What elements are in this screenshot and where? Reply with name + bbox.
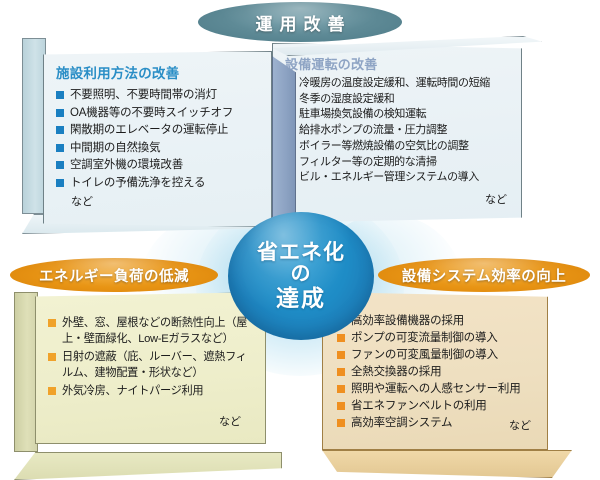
- list-item-label: ファンの可変風量制御の導入: [351, 347, 537, 363]
- panel-front-face: 設備運転の改善 冷暖房の温度設定緩和、運転時間の短縮 冬季の湿度設定緩和 駐車場…: [272, 43, 522, 223]
- item-list-facility-usage: 不要照明、不要時間帯の消灯 OA機器等の不要時スイッチオフ 閑散期のエレベータの…: [56, 87, 261, 191]
- list-item: 外気冷房、ナイトパージ利用: [48, 383, 251, 399]
- list-item: フィルター等の定期的な清掃: [285, 155, 511, 170]
- square-bullet-icon: [56, 109, 64, 117]
- list-item-label: 高効率設備機器の採用: [351, 313, 537, 329]
- center-line-2: の: [291, 264, 312, 285]
- panel-side-face: [272, 56, 296, 238]
- list-item: 空調室外機の環境改善: [56, 157, 261, 173]
- item-list-system-efficiency: 高効率設備機器の採用 ポンプの可変流量制御の導入 ファンの可変風量制御の導入 全…: [337, 313, 537, 431]
- list-item: 駐車場換気設備の検知運転: [285, 107, 511, 122]
- square-bullet-icon: [337, 385, 345, 393]
- square-bullet-icon: [56, 91, 64, 99]
- list-item: 省エネファンベルトの利用: [337, 398, 537, 414]
- list-item-label: 外壁、窓、屋根などの断熱性向上（屋上・壁面緑化、Low-Eガラスなど）: [62, 315, 251, 347]
- list-item: 閑散期のエレベータの運転停止: [56, 122, 261, 138]
- title-operational-improvement: 運用改善: [198, 2, 402, 42]
- list-item-label: 駐車場換気設備の検知運転: [299, 107, 511, 122]
- list-item-label: ボイラー等燃焼設備の空気比の調整: [299, 139, 511, 154]
- list-item: 照明や運転への人感センサー利用: [337, 381, 537, 397]
- square-bullet-icon: [337, 402, 345, 410]
- list-item: 高効率設備機器の採用: [337, 313, 537, 329]
- item-list-equipment-operation: 冷暖房の温度設定緩和、運転時間の短縮 冬季の湿度設定緩和 駐車場換気設備の検知運…: [285, 76, 511, 185]
- list-item-label: OA機器等の不要時スイッチオフ: [70, 105, 261, 121]
- list-item-label: 中間期の自然換気: [70, 140, 261, 156]
- panel-equipment-system-efficiency: 高効率設備機器の採用 ポンプの可変流量制御の導入 ファンの可変風量制御の導入 全…: [322, 288, 594, 478]
- panel-energy-load-reduction: 外壁、窓、屋根などの断熱性向上（屋上・壁面緑化、Low-Eガラスなど） 日射の遮…: [14, 292, 284, 474]
- list-item: 冬季の湿度設定緩和: [285, 92, 511, 107]
- square-bullet-icon: [48, 387, 56, 395]
- list-item: ボイラー等燃焼設備の空気比の調整: [285, 139, 511, 154]
- etc-label: など: [285, 191, 511, 207]
- panel-bottom-bevel: [14, 452, 282, 480]
- square-bullet-icon: [48, 353, 56, 361]
- list-item: 高効率空調システム: [337, 415, 537, 431]
- list-item-label: ポンプの可変流量制御の導入: [351, 330, 537, 346]
- title-energy-load-reduction: エネルギー負荷の低減: [10, 258, 218, 292]
- list-item: 給排水ポンプの流量・圧力調整: [285, 123, 511, 138]
- diagram-canvas: 施設利用方法の改善 不要照明、不要時間帯の消灯 OA機器等の不要時スイッチオフ …: [0, 0, 600, 480]
- list-item-label: 冷暖房の温度設定緩和、運転時間の短縮: [299, 76, 511, 91]
- list-item: 冷暖房の温度設定緩和、運転時間の短縮: [285, 76, 511, 91]
- list-item-label: 照明や運転への人感センサー利用: [351, 381, 537, 397]
- etc-label: など: [48, 413, 251, 429]
- list-item-label: 全熱交換器の採用: [351, 364, 537, 380]
- panel-front-face: 外壁、窓、屋根などの断熱性向上（屋上・壁面緑化、Low-Eガラスなど） 日射の遮…: [35, 292, 266, 444]
- panel-side-face: [22, 38, 46, 214]
- center-line-1: 省エネ化: [257, 242, 345, 264]
- panel-front-face: 施設利用方法の改善 不要照明、不要時間帯の消灯 OA機器等の不要時スイッチオフ …: [43, 51, 272, 227]
- list-item: ポンプの可変流量制御の導入: [337, 330, 537, 346]
- square-bullet-icon: [56, 179, 64, 187]
- panel-title-facility-usage: 施設利用方法の改善: [56, 62, 261, 82]
- list-item-label: ビル・エネルギー管理システムの導入: [299, 170, 511, 185]
- square-bullet-icon: [337, 368, 345, 376]
- list-item-label: 省エネファンベルトの利用: [351, 398, 537, 414]
- panel-content: 設備運転の改善 冷暖房の温度設定緩和、運転時間の短縮 冬季の湿度設定緩和 駐車場…: [273, 44, 521, 222]
- panel-side-face: [14, 292, 38, 452]
- center-line-3: 達成: [276, 286, 326, 310]
- list-item: 不要照明、不要時間帯の消灯: [56, 87, 261, 103]
- square-bullet-icon: [56, 144, 64, 152]
- list-item-label: 外気冷房、ナイトパージ利用: [62, 383, 251, 399]
- panel-equipment-operation-improvement: 設備運転の改善 冷暖房の温度設定緩和、運転時間の短縮 冬季の湿度設定緩和 駐車場…: [272, 36, 562, 230]
- list-item-label: 冬季の湿度設定緩和: [299, 92, 511, 107]
- list-item: ファンの可変風量制御の導入: [337, 347, 537, 363]
- list-item: 中間期の自然換気: [56, 140, 261, 156]
- list-item: トイレの予備洗浄を控える: [56, 175, 261, 191]
- title-equipment-system-efficiency: 設備システム効率の向上: [378, 258, 590, 292]
- etc-label: など: [56, 193, 261, 209]
- list-item: OA機器等の不要時スイッチオフ: [56, 105, 261, 121]
- panel-facility-usage-improvement: 施設利用方法の改善 不要照明、不要時間帯の消灯 OA機器等の不要時スイッチオフ …: [22, 38, 272, 230]
- list-item-label: トイレの予備洗浄を控える: [70, 175, 261, 191]
- list-item: 全熱交換器の採用: [337, 364, 537, 380]
- square-bullet-icon: [337, 351, 345, 359]
- list-item: ビル・エネルギー管理システムの導入: [285, 170, 511, 185]
- list-item: 日射の遮蔽（庇、ルーバー、遮熱フィルム、建物配置・形状など）: [48, 349, 251, 381]
- panel-title-equipment-operation: 設備運転の改善: [285, 54, 511, 73]
- list-item-label: フィルター等の定期的な清掃: [299, 155, 511, 170]
- square-bullet-icon: [48, 319, 56, 327]
- panel-content: 外壁、窓、屋根などの断熱性向上（屋上・壁面緑化、Low-Eガラスなど） 日射の遮…: [36, 293, 265, 443]
- list-item-label: 給排水ポンプの流量・圧力調整: [299, 123, 511, 138]
- list-item-label: 閑散期のエレベータの運転停止: [70, 122, 261, 138]
- list-item-label: 日射の遮蔽（庇、ルーバー、遮熱フィルム、建物配置・形状など）: [62, 349, 251, 381]
- square-bullet-icon: [56, 161, 64, 169]
- square-bullet-icon: [337, 334, 345, 342]
- center-goal-sphere: 省エネ化 の 達成: [228, 212, 374, 340]
- panel-content: 施設利用方法の改善 不要照明、不要時間帯の消灯 OA機器等の不要時スイッチオフ …: [44, 52, 271, 226]
- list-item-label: 空調室外機の環境改善: [70, 157, 261, 173]
- item-list-energy-load: 外壁、窓、屋根などの断熱性向上（屋上・壁面緑化、Low-Eガラスなど） 日射の遮…: [48, 315, 251, 399]
- square-bullet-icon: [56, 126, 64, 134]
- panel-bottom-bevel: [322, 450, 572, 478]
- list-item-label: 不要照明、不要時間帯の消灯: [70, 87, 261, 103]
- list-item: 外壁、窓、屋根などの断熱性向上（屋上・壁面緑化、Low-Eガラスなど）: [48, 315, 251, 347]
- square-bullet-icon: [337, 419, 345, 427]
